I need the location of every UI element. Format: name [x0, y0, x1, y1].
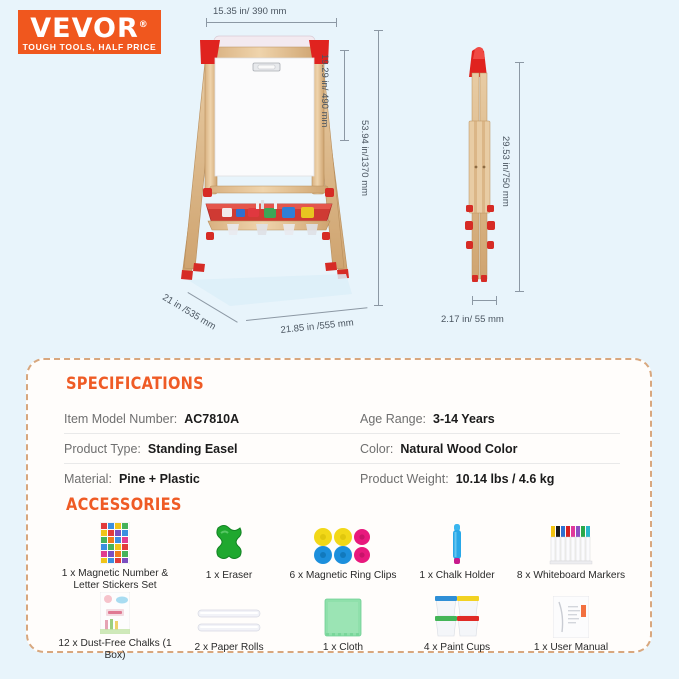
list-item: 4 x Paint Cups [400, 592, 514, 662]
paper-rolls-icon [197, 592, 261, 638]
spec-key: Color: [360, 442, 393, 456]
accessory-label: 1 x User Manual [534, 642, 608, 654]
accessory-label: 12 x Dust-Free Chalks (1 Box) [58, 638, 172, 662]
spec-cell: Product Type: Standing Easel [64, 442, 342, 456]
list-item: 1 x Magnetic Number & Letter Stickers Se… [58, 520, 172, 592]
standing-easel-folded-view [448, 45, 508, 300]
list-item: 1 x Chalk Holder [400, 520, 514, 592]
accessories-title: ACCESSORIES [66, 495, 182, 515]
spec-cell: Color: Natural Wood Color [342, 442, 620, 456]
dimension-folded-width: 2.17 in/ 55 mm [441, 314, 504, 325]
spec-value: Pine + Plastic [119, 472, 200, 486]
dimension-tick [340, 50, 349, 51]
accessories-row: 12 x Dust-Free Chalks (1 Box) 2 x Paper … [58, 592, 628, 662]
specifications-title: SPECIFICATIONS [66, 374, 204, 394]
accessory-label: 4 x Paint Cups [424, 642, 490, 654]
dimension-board-width: 15.35 in/ 390 mm [213, 6, 286, 17]
dimension-tick [374, 305, 383, 306]
dimension-tick [336, 18, 337, 27]
dimension-tick [340, 140, 349, 141]
dimension-tick [472, 296, 473, 305]
list-item: 2 x Paper Rolls [172, 592, 286, 662]
dimension-line-folded-width [472, 300, 496, 301]
dimension-tick [515, 62, 524, 63]
dimension-board-height: 19.29 in/ 490 mm [319, 54, 330, 127]
spec-value: AC7810A [184, 412, 239, 426]
table-row: Item Model Number: AC7810A Age Range: 3-… [64, 404, 620, 434]
cloth-icon [324, 592, 362, 638]
product-dimension-diagram: 15.35 in/ 390 mm 19.29 in/ 490 mm 53.94 … [0, 0, 679, 350]
dimension-base-width: 21.85 in /555 mm [280, 317, 354, 336]
dimension-line-board-width [206, 22, 336, 23]
whiteboard-markers-icon [549, 520, 593, 566]
dimension-tick [496, 296, 497, 305]
sticker-sheet-icon [100, 520, 130, 564]
accessory-label: 1 x Magnetic Number & Letter Stickers Se… [62, 568, 168, 592]
dimension-line-total-height [378, 30, 379, 305]
dimension-tick [206, 18, 207, 27]
eraser-icon [212, 520, 246, 566]
spec-cell: Age Range: 3-14 Years [342, 412, 620, 426]
standing-easel-open-view [170, 18, 370, 318]
magnetic-ring-clips-icon [312, 520, 374, 566]
accessory-label: 1 x Eraser [206, 570, 252, 582]
dimension-tick [515, 291, 524, 292]
list-item: 12 x Dust-Free Chalks (1 Box) [58, 592, 172, 662]
accessory-label: 1 x Cloth [323, 642, 363, 654]
list-item: 1 x User Manual [514, 592, 628, 662]
spec-value: 3-14 Years [433, 412, 495, 426]
spec-value: 10.14 lbs / 4.6 kg [456, 472, 555, 486]
paint-cups-icon [434, 592, 480, 638]
dimension-line-board-height [344, 50, 345, 140]
chalk-box-icon [100, 592, 130, 634]
list-item: 1 x Eraser [172, 520, 286, 592]
spec-cell: Item Model Number: AC7810A [64, 412, 342, 426]
spec-value: Natural Wood Color [400, 442, 517, 456]
spec-key: Material: [64, 472, 112, 486]
spec-key: Age Range: [360, 412, 426, 426]
dimension-line-folded-height [519, 62, 520, 291]
accessory-label: 1 x Chalk Holder [419, 570, 494, 582]
spec-key: Product Weight: [360, 472, 449, 486]
spec-key: Item Model Number: [64, 412, 177, 426]
user-manual-icon [553, 592, 589, 638]
accessories-row: 1 x Magnetic Number & Letter Stickers Se… [58, 520, 628, 592]
chalk-holder-icon [449, 520, 465, 566]
spec-cell: Material: Pine + Plastic [64, 472, 342, 486]
spec-cell: Product Weight: 10.14 lbs / 4.6 kg [342, 472, 620, 486]
dimension-folded-height: 29.53 in/750 mm [500, 136, 511, 207]
specifications-table: Item Model Number: AC7810A Age Range: 3-… [64, 404, 620, 493]
spec-value: Standing Easel [148, 442, 238, 456]
list-item: 1 x Cloth [286, 592, 400, 662]
accessories-grid: 1 x Magnetic Number & Letter Stickers Se… [58, 520, 628, 662]
dimension-total-height: 53.94 in/1370 mm [359, 120, 370, 196]
product-info-card: SPECIFICATIONS Item Model Number: AC7810… [26, 358, 652, 653]
table-row: Product Type: Standing Easel Color: Natu… [64, 434, 620, 464]
list-item: 8 x Whiteboard Markers [514, 520, 628, 592]
list-item: 6 x Magnetic Ring Clips [286, 520, 400, 592]
accessory-label: 6 x Magnetic Ring Clips [289, 570, 396, 582]
table-row: Material: Pine + Plastic Product Weight:… [64, 464, 620, 493]
spec-key: Product Type: [64, 442, 141, 456]
accessory-label: 2 x Paper Rolls [194, 642, 263, 654]
accessory-label: 8 x Whiteboard Markers [517, 570, 625, 582]
dimension-tick [374, 30, 383, 31]
